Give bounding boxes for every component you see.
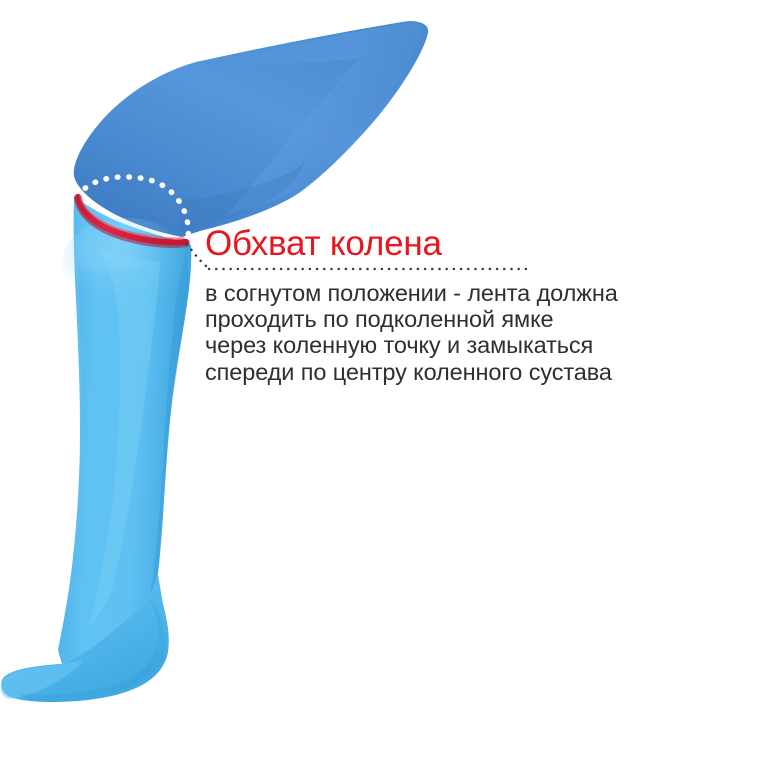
bent-leg-illustration	[0, 0, 767, 767]
infographic-canvas: Обхват колена в согнутом положении - лен…	[0, 0, 767, 767]
thigh-shape	[74, 21, 428, 237]
leader-line	[187, 244, 531, 269]
shin-shape	[58, 196, 191, 664]
